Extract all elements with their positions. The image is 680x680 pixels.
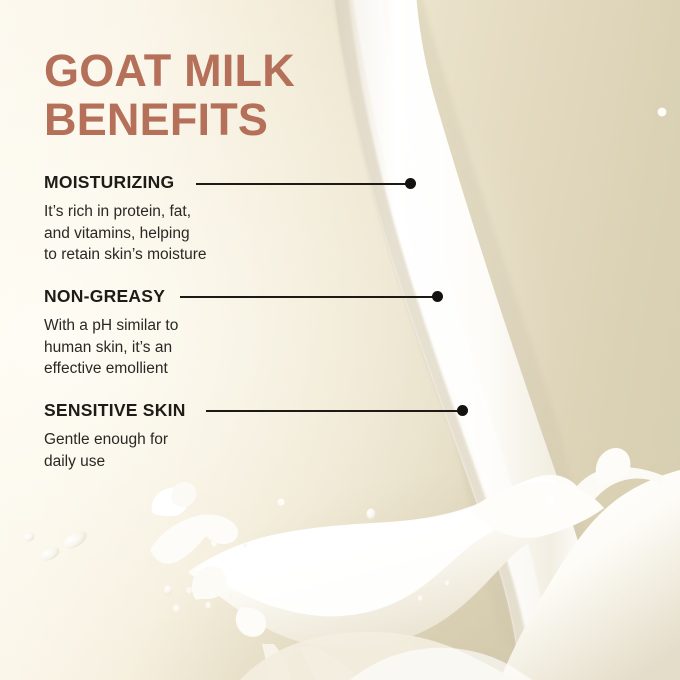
connector-dot-moisturizing — [405, 178, 416, 189]
page-title: GOAT MILK BENEFITS — [44, 46, 354, 144]
benefit-description: It’s rich in protein, fat, and vitamins,… — [44, 201, 374, 266]
benefit-item-non-greasy: NON-GREASY With a pH similar to human sk… — [44, 286, 374, 380]
goat-milk-benefits-poster: GOAT MILK BENEFITS MOISTURIZING It’s ric… — [0, 0, 680, 680]
connector-line-non-greasy — [180, 296, 435, 298]
connector-dot-non-greasy — [432, 291, 443, 302]
benefit-description: Gentle enough for daily use — [44, 429, 374, 472]
benefit-description: With a pH similar to human skin, it’s an… — [44, 315, 374, 380]
benefit-item-moisturizing: MOISTURIZING It’s rich in protein, fat, … — [44, 172, 374, 266]
connector-line-moisturizing — [196, 183, 410, 185]
connector-dot-sensitive-skin — [457, 405, 468, 416]
benefit-heading: MOISTURIZING — [44, 172, 374, 192]
connector-line-sensitive-skin — [206, 410, 460, 412]
